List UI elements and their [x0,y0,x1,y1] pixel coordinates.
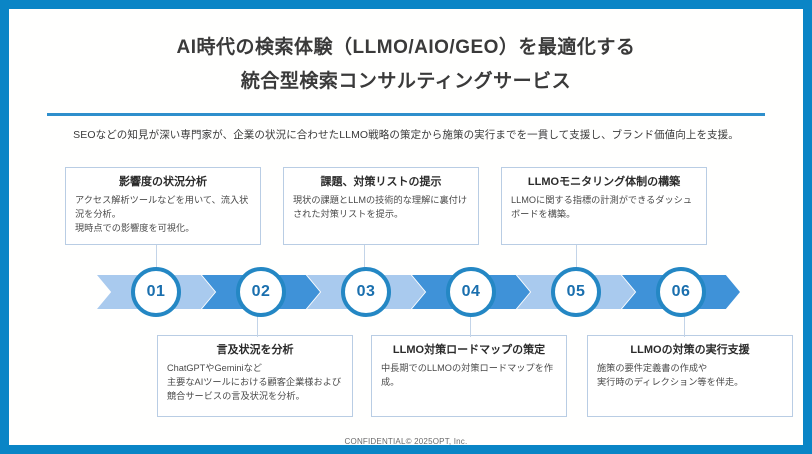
step-node-04[interactable]: 04 [446,267,496,317]
title-line-1: AI時代の検索体験（LLMO/AIO/GEO）を最適化する [9,31,803,65]
connector-stem-06 [684,315,685,337]
slide-frame: AI時代の検索体験（LLMO/AIO/GEO）を最適化する 統合型検索コンサルテ… [0,0,812,454]
title-divider [47,113,765,116]
lead-paragraph: SEOなどの知見が深い専門家が、企業の状況に合わせたLLMO戦略の策定から施策の… [47,127,765,143]
step-card-02: 言及状況を分析 ChatGPTやGeminiなど 主要なAIツールにおける顧客企… [157,335,353,417]
step-number: 02 [252,284,271,300]
step-node-02[interactable]: 02 [236,267,286,317]
step-card-04: LLMO対策ロードマップの策定 中長期でのLLMOの対策ロードマップを作成。 [371,335,567,417]
step-card-body: アクセス解析ツールなどを用いて、流入状況を分析。 現時点での影響度を可視化。 [75,193,251,235]
step-card-title: 課題、対策リストの提示 [293,174,469,190]
step-number: 05 [567,284,586,300]
step-card-06: LLMOの対策の実行支援 施策の要件定義書の作成や 実行時のディレクション等を伴… [587,335,793,417]
slide-canvas: AI時代の検索体験（LLMO/AIO/GEO）を最適化する 統合型検索コンサルテ… [9,9,803,445]
step-card-01: 影響度の状況分析 アクセス解析ツールなどを用いて、流入状況を分析。 現時点での影… [65,167,261,245]
step-node-05[interactable]: 05 [551,267,601,317]
step-card-title: LLMOモニタリング体制の構築 [511,174,697,190]
title-line-2: 統合型検索コンサルティングサービス [9,65,803,99]
step-card-title: LLMOの対策の実行支援 [597,342,783,358]
step-card-body: 中長期でのLLMOの対策ロードマップを作成。 [381,361,557,389]
connector-stem-02 [257,315,258,337]
step-card-title: LLMO対策ロードマップの策定 [381,342,557,358]
confidential-footer: CONFIDENTIAL© 2025OPT, Inc. [9,437,803,446]
step-card-title: 言及状況を分析 [167,342,343,358]
step-number: 04 [462,284,481,300]
connector-stem-04 [470,315,471,337]
step-node-01[interactable]: 01 [131,267,181,317]
step-node-03[interactable]: 03 [341,267,391,317]
step-card-body: 現状の課題とLLMの技術的な理解に裏付けされた対策リストを提示。 [293,193,469,221]
page-title: AI時代の検索体験（LLMO/AIO/GEO）を最適化する 統合型検索コンサルテ… [9,31,803,99]
step-card-body: LLMOに関する指標の計測ができるダッシュボードを構築。 [511,193,697,221]
step-card-body: ChatGPTやGeminiなど 主要なAIツールにおける顧客企業様および競合サ… [167,361,343,403]
step-node-06[interactable]: 06 [656,267,706,317]
connector-stem-03 [364,245,365,269]
step-card-body: 施策の要件定義書の作成や 実行時のディレクション等を伴走。 [597,361,783,389]
step-card-title: 影響度の状況分析 [75,174,251,190]
step-number: 01 [147,284,166,300]
process-chevron-strip: 01 02 03 04 05 06 [97,267,737,317]
step-card-03: 課題、対策リストの提示 現状の課題とLLMの技術的な理解に裏付けされた対策リスト… [283,167,479,245]
connector-stem-01 [156,245,157,269]
step-number: 03 [357,284,376,300]
step-card-05: LLMOモニタリング体制の構築 LLMOに関する指標の計測ができるダッシュボード… [501,167,707,245]
step-number: 06 [672,284,691,300]
connector-stem-05 [576,245,577,269]
